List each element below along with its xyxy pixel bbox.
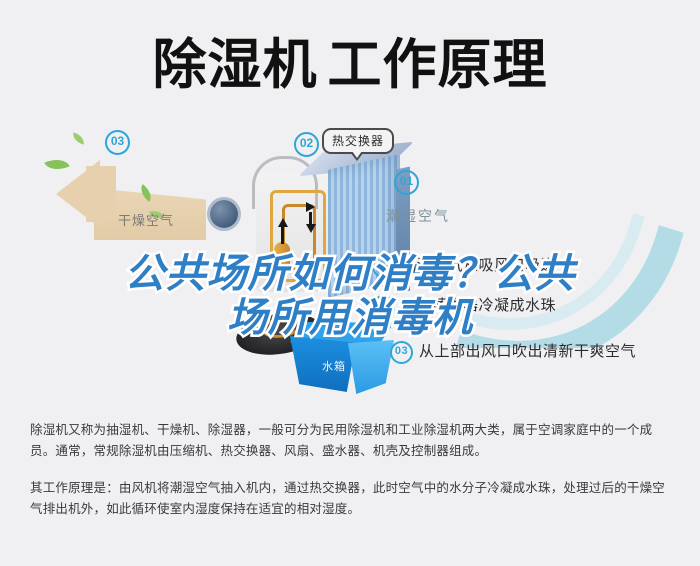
page-root: 除湿机工作原理 干燥空气 03	[0, 0, 700, 566]
step-text-03: 从上部出风口吹出清新干爽空气	[419, 343, 636, 360]
overlay-headline: 公共场所如何消毒？公共 场所用消毒机	[0, 252, 700, 340]
overlay-headline-line-1: 公共场所如何消毒？公共	[0, 252, 700, 296]
overlay-headline-line-2: 场所用消毒机	[0, 296, 700, 340]
body-paragraph-1: 除湿机又称为抽湿机、干燥机、除湿器，一般可分为民用除湿机和工业除湿机两大类，属于…	[30, 420, 674, 462]
step-description-03: 03从上部出风口吹出清新干爽空气	[390, 340, 636, 364]
body-paragraph-2: 其工作原理是：由风机将潮湿空气抽入机内，通过热交换器，此时空气中的水分子冷凝成水…	[30, 478, 674, 520]
article-body: 除湿机又称为抽湿机、干燥机、除湿器，一般可分为民用除湿机和工业除湿机两大类，属于…	[30, 420, 674, 536]
page-title: 除湿机工作原理	[0, 34, 700, 96]
title-part-1: 除湿机	[153, 35, 318, 95]
title-banner: 除湿机工作原理	[0, 0, 700, 122]
step-badge-inline-03: 03	[390, 341, 413, 364]
title-part-2: 工作原理	[328, 35, 548, 95]
